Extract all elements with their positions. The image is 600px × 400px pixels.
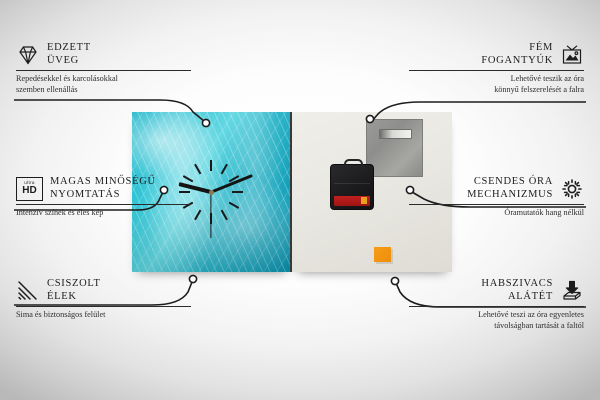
feature-header: EDZETTÜVEG <box>16 42 191 70</box>
feature-title: FÉMFOGANTYÚK <box>481 42 553 67</box>
feature-subtitle: Lehetővé teszi az óra egyenletestávolság… <box>409 307 584 331</box>
feature-header: HABSZIVACSALÁTÉT <box>409 278 584 306</box>
mechanism-seam <box>334 183 370 184</box>
feature-subtitle: Lehetővé teszik az órakönnyű felszerelés… <box>409 71 584 95</box>
diamond-icon <box>16 43 40 67</box>
feature-subtitle: Óramutatók hang nélkül <box>409 205 584 219</box>
metal-hanger-plate <box>366 119 423 177</box>
feature-header: CSENDES ÓRAMECHANIZMUS <box>409 176 584 204</box>
feature-title: CSISZOLTÉLEK <box>47 278 101 303</box>
wall-mount-picture-icon <box>560 43 584 67</box>
foam-pad-arrow-icon <box>560 279 584 303</box>
feature-silent-mechanism: CSENDES ÓRAMECHANIZMUS Óramutatók hang n… <box>409 176 584 219</box>
infographic-canvas: EDZETTÜVEG Repedésekkel és karcolásokkal… <box>0 0 600 400</box>
badge-large-label: HD <box>22 186 36 196</box>
gear-icon <box>560 177 584 201</box>
feature-header: CSISZOLTÉLEK <box>16 278 191 306</box>
feature-foam-pad: HABSZIVACSALÁTÉT Lehetővé teszi az óra e… <box>409 278 584 331</box>
feature-subtitle: Intenzív színek és éles kép <box>16 205 191 219</box>
feature-header: FÉMFOGANTYÚK <box>409 42 584 70</box>
feature-subtitle: Repedésekkel és karcolásokkalszemben ell… <box>16 71 191 95</box>
feature-title: MAGAS MINŐSÉGŰNYOMTATÁS <box>50 176 156 201</box>
ultra-hd-badge-icon: ultra HD <box>16 177 43 201</box>
foam-pad-spacer <box>374 247 391 262</box>
feature-subtitle: Sima és biztonságos felület <box>16 307 191 321</box>
clock-center-cap <box>209 190 214 195</box>
feature-title: CSENDES ÓRAMECHANIZMUS <box>467 176 553 201</box>
feature-title: EDZETTÜVEG <box>47 42 91 67</box>
mechanism-hanger-loop <box>344 159 363 170</box>
feature-high-quality-print: ultra HD MAGAS MINŐSÉGŰNYOMTATÁS Intenzí… <box>16 176 191 219</box>
connector-endpoint-foam-pad <box>391 277 398 284</box>
feature-title: HABSZIVACSALÁTÉT <box>481 278 553 303</box>
polished-edges-icon <box>16 279 40 303</box>
feature-tempered-glass: EDZETTÜVEG Repedésekkel és karcolásokkal… <box>16 42 191 95</box>
battery <box>334 196 370 206</box>
feature-polished-edges: CSISZOLTÉLEK Sima és biztonságos felület <box>16 278 191 321</box>
clock-mechanism-box <box>330 164 374 210</box>
feature-metal-handles: FÉMFOGANTYÚK Lehetővé teszik az órakönny… <box>409 42 584 95</box>
feature-header: ultra HD MAGAS MINŐSÉGŰNYOMTATÁS <box>16 176 191 204</box>
